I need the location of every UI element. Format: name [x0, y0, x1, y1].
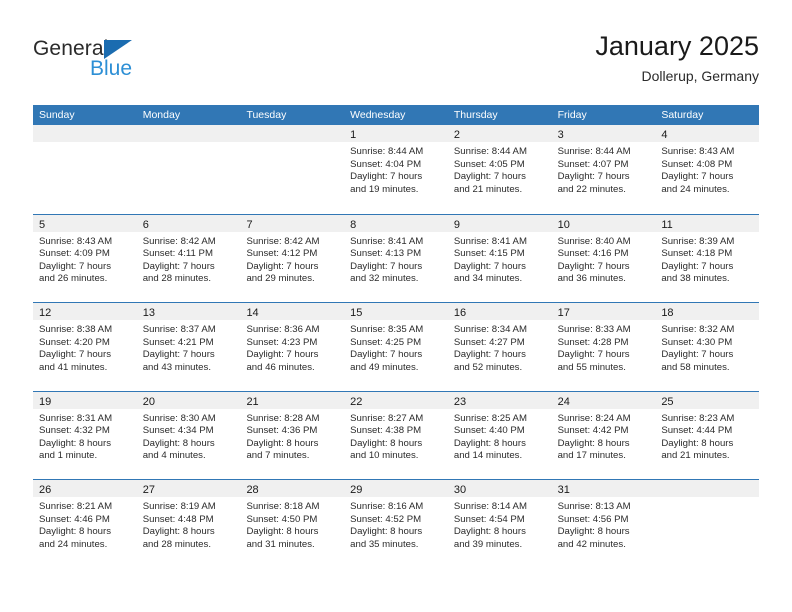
calendar-day-cell[interactable]: 28 Sunrise: 8:18 AM Sunset: 4:50 PM Dayl…	[240, 480, 344, 568]
calendar-week-row: 5 Sunrise: 8:43 AM Sunset: 4:09 PM Dayli…	[33, 214, 759, 303]
sunrise-text: Sunrise: 8:32 AM	[661, 324, 754, 337]
day-number: 26	[39, 484, 51, 496]
daylight-text-line2: and 58 minutes.	[661, 362, 754, 375]
location-subtitle: Dollerup, Germany	[595, 68, 759, 85]
calendar-day-cell[interactable]: 5 Sunrise: 8:43 AM Sunset: 4:09 PM Dayli…	[33, 215, 137, 303]
daylight-text-line1: Daylight: 7 hours	[558, 261, 651, 274]
daylight-text-line1: Daylight: 7 hours	[350, 171, 443, 184]
day-number: 18	[661, 307, 673, 319]
day-number: 29	[350, 484, 362, 496]
daylight-text-line2: and 36 minutes.	[558, 273, 651, 286]
calendar-day-cell[interactable]: 18 Sunrise: 8:32 AM Sunset: 4:30 PM Dayl…	[655, 303, 759, 391]
calendar-day-cell[interactable]: 30 Sunrise: 8:14 AM Sunset: 4:54 PM Dayl…	[448, 480, 552, 568]
calendar-day-cell[interactable]	[137, 125, 241, 214]
sunrise-text: Sunrise: 8:14 AM	[454, 501, 547, 514]
calendar-week-row: 1 Sunrise: 8:44 AM Sunset: 4:04 PM Dayli…	[33, 125, 759, 214]
calendar-week-row: 26 Sunrise: 8:21 AM Sunset: 4:46 PM Dayl…	[33, 479, 759, 568]
daylight-text-line2: and 7 minutes.	[246, 450, 339, 463]
sunrise-text: Sunrise: 8:18 AM	[246, 501, 339, 514]
daylight-text-line1: Daylight: 7 hours	[661, 349, 754, 362]
day-number: 3	[558, 129, 564, 141]
daylight-text-line1: Daylight: 8 hours	[39, 438, 132, 451]
day-number: 20	[143, 396, 155, 408]
calendar-day-cell[interactable]: 7 Sunrise: 8:42 AM Sunset: 4:12 PM Dayli…	[240, 215, 344, 303]
sunset-text: Sunset: 4:50 PM	[246, 514, 339, 527]
sunset-text: Sunset: 4:16 PM	[558, 248, 651, 261]
calendar-day-cell[interactable]: 26 Sunrise: 8:21 AM Sunset: 4:46 PM Dayl…	[33, 480, 137, 568]
daylight-text-line1: Daylight: 7 hours	[661, 171, 754, 184]
sunrise-text: Sunrise: 8:30 AM	[143, 413, 236, 426]
sunset-text: Sunset: 4:30 PM	[661, 337, 754, 350]
daylight-text-line1: Daylight: 7 hours	[246, 349, 339, 362]
weekday-header-thursday: Thursday	[448, 105, 552, 125]
sunrise-text: Sunrise: 8:28 AM	[246, 413, 339, 426]
daylight-text-line2: and 29 minutes.	[246, 273, 339, 286]
daylight-text-line1: Daylight: 8 hours	[350, 526, 443, 539]
daylight-text-line2: and 17 minutes.	[558, 450, 651, 463]
weekday-header-tuesday: Tuesday	[240, 105, 344, 125]
sunrise-text: Sunrise: 8:35 AM	[350, 324, 443, 337]
day-number: 30	[454, 484, 466, 496]
daylight-text-line2: and 26 minutes.	[39, 273, 132, 286]
day-number: 7	[246, 219, 252, 231]
weekday-header-row: Sunday Monday Tuesday Wednesday Thursday…	[33, 105, 759, 125]
sunset-text: Sunset: 4:38 PM	[350, 425, 443, 438]
sunrise-text: Sunrise: 8:41 AM	[454, 236, 547, 249]
daylight-text-line1: Daylight: 7 hours	[454, 349, 547, 362]
daylight-text-line1: Daylight: 8 hours	[454, 526, 547, 539]
sunset-text: Sunset: 4:23 PM	[246, 337, 339, 350]
sunrise-text: Sunrise: 8:36 AM	[246, 324, 339, 337]
daylight-text-line2: and 24 minutes.	[661, 184, 754, 197]
calendar-day-cell[interactable]	[655, 480, 759, 568]
sunset-text: Sunset: 4:18 PM	[661, 248, 754, 261]
sunrise-text: Sunrise: 8:33 AM	[558, 324, 651, 337]
calendar-day-cell[interactable]: 17 Sunrise: 8:33 AM Sunset: 4:28 PM Dayl…	[552, 303, 656, 391]
calendar-day-cell[interactable]: 11 Sunrise: 8:39 AM Sunset: 4:18 PM Dayl…	[655, 215, 759, 303]
daylight-text-line2: and 19 minutes.	[350, 184, 443, 197]
daylight-text-line2: and 4 minutes.	[143, 450, 236, 463]
sunrise-text: Sunrise: 8:23 AM	[661, 413, 754, 426]
sunset-text: Sunset: 4:20 PM	[39, 337, 132, 350]
daylight-text-line1: Daylight: 7 hours	[143, 349, 236, 362]
sunset-text: Sunset: 4:52 PM	[350, 514, 443, 527]
day-number: 13	[143, 307, 155, 319]
calendar-week-row: 19 Sunrise: 8:31 AM Sunset: 4:32 PM Dayl…	[33, 391, 759, 480]
daylight-text-line1: Daylight: 7 hours	[39, 349, 132, 362]
sunset-text: Sunset: 4:36 PM	[246, 425, 339, 438]
sunset-text: Sunset: 4:25 PM	[350, 337, 443, 350]
calendar-day-cell[interactable]: 16 Sunrise: 8:34 AM Sunset: 4:27 PM Dayl…	[448, 303, 552, 391]
weekday-header-monday: Monday	[137, 105, 241, 125]
sunset-text: Sunset: 4:48 PM	[143, 514, 236, 527]
day-number: 22	[350, 396, 362, 408]
daylight-text-line1: Daylight: 8 hours	[558, 438, 651, 451]
calendar-grid: Sunday Monday Tuesday Wednesday Thursday…	[33, 105, 759, 568]
calendar-day-cell[interactable]: 10 Sunrise: 8:40 AM Sunset: 4:16 PM Dayl…	[552, 215, 656, 303]
calendar-day-cell[interactable]: 23 Sunrise: 8:25 AM Sunset: 4:40 PM Dayl…	[448, 392, 552, 480]
sunset-text: Sunset: 4:04 PM	[350, 159, 443, 172]
sunrise-text: Sunrise: 8:44 AM	[454, 146, 547, 159]
calendar-day-cell[interactable]: 29 Sunrise: 8:16 AM Sunset: 4:52 PM Dayl…	[344, 480, 448, 568]
sunrise-text: Sunrise: 8:43 AM	[39, 236, 132, 249]
sunrise-text: Sunrise: 8:41 AM	[350, 236, 443, 249]
daylight-text-line1: Daylight: 7 hours	[558, 349, 651, 362]
day-number: 28	[246, 484, 258, 496]
daylight-text-line2: and 32 minutes.	[350, 273, 443, 286]
sunset-text: Sunset: 4:27 PM	[454, 337, 547, 350]
sunrise-text: Sunrise: 8:44 AM	[350, 146, 443, 159]
weekday-header-saturday: Saturday	[655, 105, 759, 125]
day-number: 16	[454, 307, 466, 319]
day-number: 21	[246, 396, 258, 408]
sunrise-text: Sunrise: 8:24 AM	[558, 413, 651, 426]
day-number: 4	[661, 129, 667, 141]
sunrise-text: Sunrise: 8:43 AM	[661, 146, 754, 159]
daylight-text-line2: and 21 minutes.	[454, 184, 547, 197]
sunset-text: Sunset: 4:09 PM	[39, 248, 132, 261]
sunrise-text: Sunrise: 8:44 AM	[558, 146, 651, 159]
sunset-text: Sunset: 4:54 PM	[454, 514, 547, 527]
daylight-text-line2: and 21 minutes.	[661, 450, 754, 463]
day-number: 5	[39, 219, 45, 231]
day-number: 12	[39, 307, 51, 319]
daylight-text-line2: and 31 minutes.	[246, 539, 339, 552]
calendar-day-cell[interactable]	[33, 125, 137, 214]
daylight-text-line1: Daylight: 7 hours	[350, 261, 443, 274]
sunset-text: Sunset: 4:21 PM	[143, 337, 236, 350]
calendar-day-cell[interactable]: 3 Sunrise: 8:44 AM Sunset: 4:07 PM Dayli…	[552, 125, 656, 214]
sunset-text: Sunset: 4:28 PM	[558, 337, 651, 350]
daylight-text-line2: and 1 minute.	[39, 450, 132, 463]
daylight-text-line2: and 14 minutes.	[454, 450, 547, 463]
sunset-text: Sunset: 4:34 PM	[143, 425, 236, 438]
general-blue-logo[interactable]: General Blue	[33, 38, 233, 86]
daylight-text-line2: and 41 minutes.	[39, 362, 132, 375]
day-number: 6	[143, 219, 149, 231]
day-number: 15	[350, 307, 362, 319]
calendar-day-cell[interactable]: 20 Sunrise: 8:30 AM Sunset: 4:34 PM Dayl…	[137, 392, 241, 480]
daylight-text-line2: and 28 minutes.	[143, 539, 236, 552]
day-number: 9	[454, 219, 460, 231]
day-number: 31	[558, 484, 570, 496]
calendar-day-cell[interactable]: 12 Sunrise: 8:38 AM Sunset: 4:20 PM Dayl…	[33, 303, 137, 391]
sunset-text: Sunset: 4:11 PM	[143, 248, 236, 261]
calendar-week-row: 12 Sunrise: 8:38 AM Sunset: 4:20 PM Dayl…	[33, 302, 759, 391]
daylight-text-line2: and 38 minutes.	[661, 273, 754, 286]
calendar-day-cell[interactable]: 14 Sunrise: 8:36 AM Sunset: 4:23 PM Dayl…	[240, 303, 344, 391]
sunrise-text: Sunrise: 8:31 AM	[39, 413, 132, 426]
calendar-day-cell[interactable]: 9 Sunrise: 8:41 AM Sunset: 4:15 PM Dayli…	[448, 215, 552, 303]
daylight-text-line2: and 10 minutes.	[350, 450, 443, 463]
sunset-text: Sunset: 4:15 PM	[454, 248, 547, 261]
sunset-text: Sunset: 4:44 PM	[661, 425, 754, 438]
sunset-text: Sunset: 4:56 PM	[558, 514, 651, 527]
daylight-text-line1: Daylight: 8 hours	[39, 526, 132, 539]
brand-name-blue: Blue	[90, 58, 132, 80]
calendar-day-cell[interactable]: 31 Sunrise: 8:13 AM Sunset: 4:56 PM Dayl…	[552, 480, 656, 568]
sunset-text: Sunset: 4:07 PM	[558, 159, 651, 172]
day-number: 10	[558, 219, 570, 231]
daylight-text-line2: and 35 minutes.	[350, 539, 443, 552]
daylight-text-line1: Daylight: 7 hours	[246, 261, 339, 274]
daylight-text-line1: Daylight: 8 hours	[246, 438, 339, 451]
calendar-day-cell[interactable]: 6 Sunrise: 8:42 AM Sunset: 4:11 PM Dayli…	[137, 215, 241, 303]
daylight-text-line1: Daylight: 8 hours	[454, 438, 547, 451]
daylight-text-line2: and 28 minutes.	[143, 273, 236, 286]
daylight-text-line2: and 34 minutes.	[454, 273, 547, 286]
daylight-text-line1: Daylight: 8 hours	[558, 526, 651, 539]
calendar-day-cell[interactable]: 19 Sunrise: 8:31 AM Sunset: 4:32 PM Dayl…	[33, 392, 137, 480]
weekday-header-sunday: Sunday	[33, 105, 137, 125]
calendar-day-cell[interactable]: 21 Sunrise: 8:28 AM Sunset: 4:36 PM Dayl…	[240, 392, 344, 480]
day-number: 24	[558, 396, 570, 408]
sunrise-text: Sunrise: 8:40 AM	[558, 236, 651, 249]
sunrise-text: Sunrise: 8:37 AM	[143, 324, 236, 337]
calendar-page: General Blue January 2025 Dollerup, Germ…	[0, 0, 792, 612]
sunrise-text: Sunrise: 8:42 AM	[246, 236, 339, 249]
weekday-header-friday: Friday	[552, 105, 656, 125]
daylight-text-line1: Daylight: 8 hours	[661, 438, 754, 451]
day-number: 25	[661, 396, 673, 408]
daylight-text-line2: and 42 minutes.	[558, 539, 651, 552]
daylight-text-line2: and 39 minutes.	[454, 539, 547, 552]
calendar-day-cell[interactable]: 4 Sunrise: 8:43 AM Sunset: 4:08 PM Dayli…	[655, 125, 759, 214]
sunrise-text: Sunrise: 8:25 AM	[454, 413, 547, 426]
page-title: January 2025	[595, 30, 759, 62]
daylight-text-line1: Daylight: 8 hours	[246, 526, 339, 539]
daylight-text-line1: Daylight: 7 hours	[558, 171, 651, 184]
sunset-text: Sunset: 4:12 PM	[246, 248, 339, 261]
calendar-day-cell[interactable]: 22 Sunrise: 8:27 AM Sunset: 4:38 PM Dayl…	[344, 392, 448, 480]
calendar-day-cell[interactable]: 27 Sunrise: 8:19 AM Sunset: 4:48 PM Dayl…	[137, 480, 241, 568]
sunrise-text: Sunrise: 8:27 AM	[350, 413, 443, 426]
sunrise-text: Sunrise: 8:34 AM	[454, 324, 547, 337]
daylight-text-line1: Daylight: 7 hours	[350, 349, 443, 362]
day-number: 1	[350, 129, 356, 141]
sunset-text: Sunset: 4:46 PM	[39, 514, 132, 527]
calendar-day-cell[interactable]	[240, 125, 344, 214]
daylight-text-line2: and 24 minutes.	[39, 539, 132, 552]
calendar-day-cell[interactable]: 1 Sunrise: 8:44 AM Sunset: 4:04 PM Dayli…	[344, 125, 448, 214]
daylight-text-line1: Daylight: 8 hours	[350, 438, 443, 451]
sunset-text: Sunset: 4:42 PM	[558, 425, 651, 438]
sunset-text: Sunset: 4:40 PM	[454, 425, 547, 438]
sunrise-text: Sunrise: 8:21 AM	[39, 501, 132, 514]
sunrise-text: Sunrise: 8:16 AM	[350, 501, 443, 514]
daylight-text-line1: Daylight: 7 hours	[454, 171, 547, 184]
calendar-day-cell[interactable]: 8 Sunrise: 8:41 AM Sunset: 4:13 PM Dayli…	[344, 215, 448, 303]
sunset-text: Sunset: 4:13 PM	[350, 248, 443, 261]
day-number: 14	[246, 307, 258, 319]
daylight-text-line2: and 52 minutes.	[454, 362, 547, 375]
sunrise-text: Sunrise: 8:19 AM	[143, 501, 236, 514]
calendar-day-cell[interactable]: 25 Sunrise: 8:23 AM Sunset: 4:44 PM Dayl…	[655, 392, 759, 480]
day-number: 17	[558, 307, 570, 319]
daylight-text-line1: Daylight: 7 hours	[454, 261, 547, 274]
sunrise-text: Sunrise: 8:39 AM	[661, 236, 754, 249]
daylight-text-line1: Daylight: 7 hours	[39, 261, 132, 274]
sunset-text: Sunset: 4:32 PM	[39, 425, 132, 438]
daylight-text-line2: and 46 minutes.	[246, 362, 339, 375]
day-number: 11	[661, 219, 672, 231]
daylight-text-line1: Daylight: 8 hours	[143, 438, 236, 451]
day-number: 27	[143, 484, 155, 496]
sunrise-text: Sunrise: 8:13 AM	[558, 501, 651, 514]
sunrise-text: Sunrise: 8:38 AM	[39, 324, 132, 337]
day-number: 23	[454, 396, 466, 408]
daylight-text-line2: and 49 minutes.	[350, 362, 443, 375]
calendar-day-cell[interactable]: 2 Sunrise: 8:44 AM Sunset: 4:05 PM Dayli…	[448, 125, 552, 214]
calendar-day-cell[interactable]: 24 Sunrise: 8:24 AM Sunset: 4:42 PM Dayl…	[552, 392, 656, 480]
weekday-header-wednesday: Wednesday	[344, 105, 448, 125]
daylight-text-line2: and 22 minutes.	[558, 184, 651, 197]
sunset-text: Sunset: 4:05 PM	[454, 159, 547, 172]
daylight-text-line2: and 55 minutes.	[558, 362, 651, 375]
daylight-text-line2: and 43 minutes.	[143, 362, 236, 375]
day-number: 8	[350, 219, 356, 231]
title-block: January 2025 Dollerup, Germany	[595, 30, 759, 85]
sunset-text: Sunset: 4:08 PM	[661, 159, 754, 172]
calendar-day-cell[interactable]: 13 Sunrise: 8:37 AM Sunset: 4:21 PM Dayl…	[137, 303, 241, 391]
calendar-day-cell[interactable]: 15 Sunrise: 8:35 AM Sunset: 4:25 PM Dayl…	[344, 303, 448, 391]
daylight-text-line1: Daylight: 7 hours	[143, 261, 236, 274]
day-number: 2	[454, 129, 460, 141]
sunrise-text: Sunrise: 8:42 AM	[143, 236, 236, 249]
daylight-text-line1: Daylight: 8 hours	[143, 526, 236, 539]
page-header: General Blue January 2025 Dollerup, Germ…	[33, 30, 759, 100]
daylight-text-line1: Daylight: 7 hours	[661, 261, 754, 274]
day-number: 19	[39, 396, 51, 408]
